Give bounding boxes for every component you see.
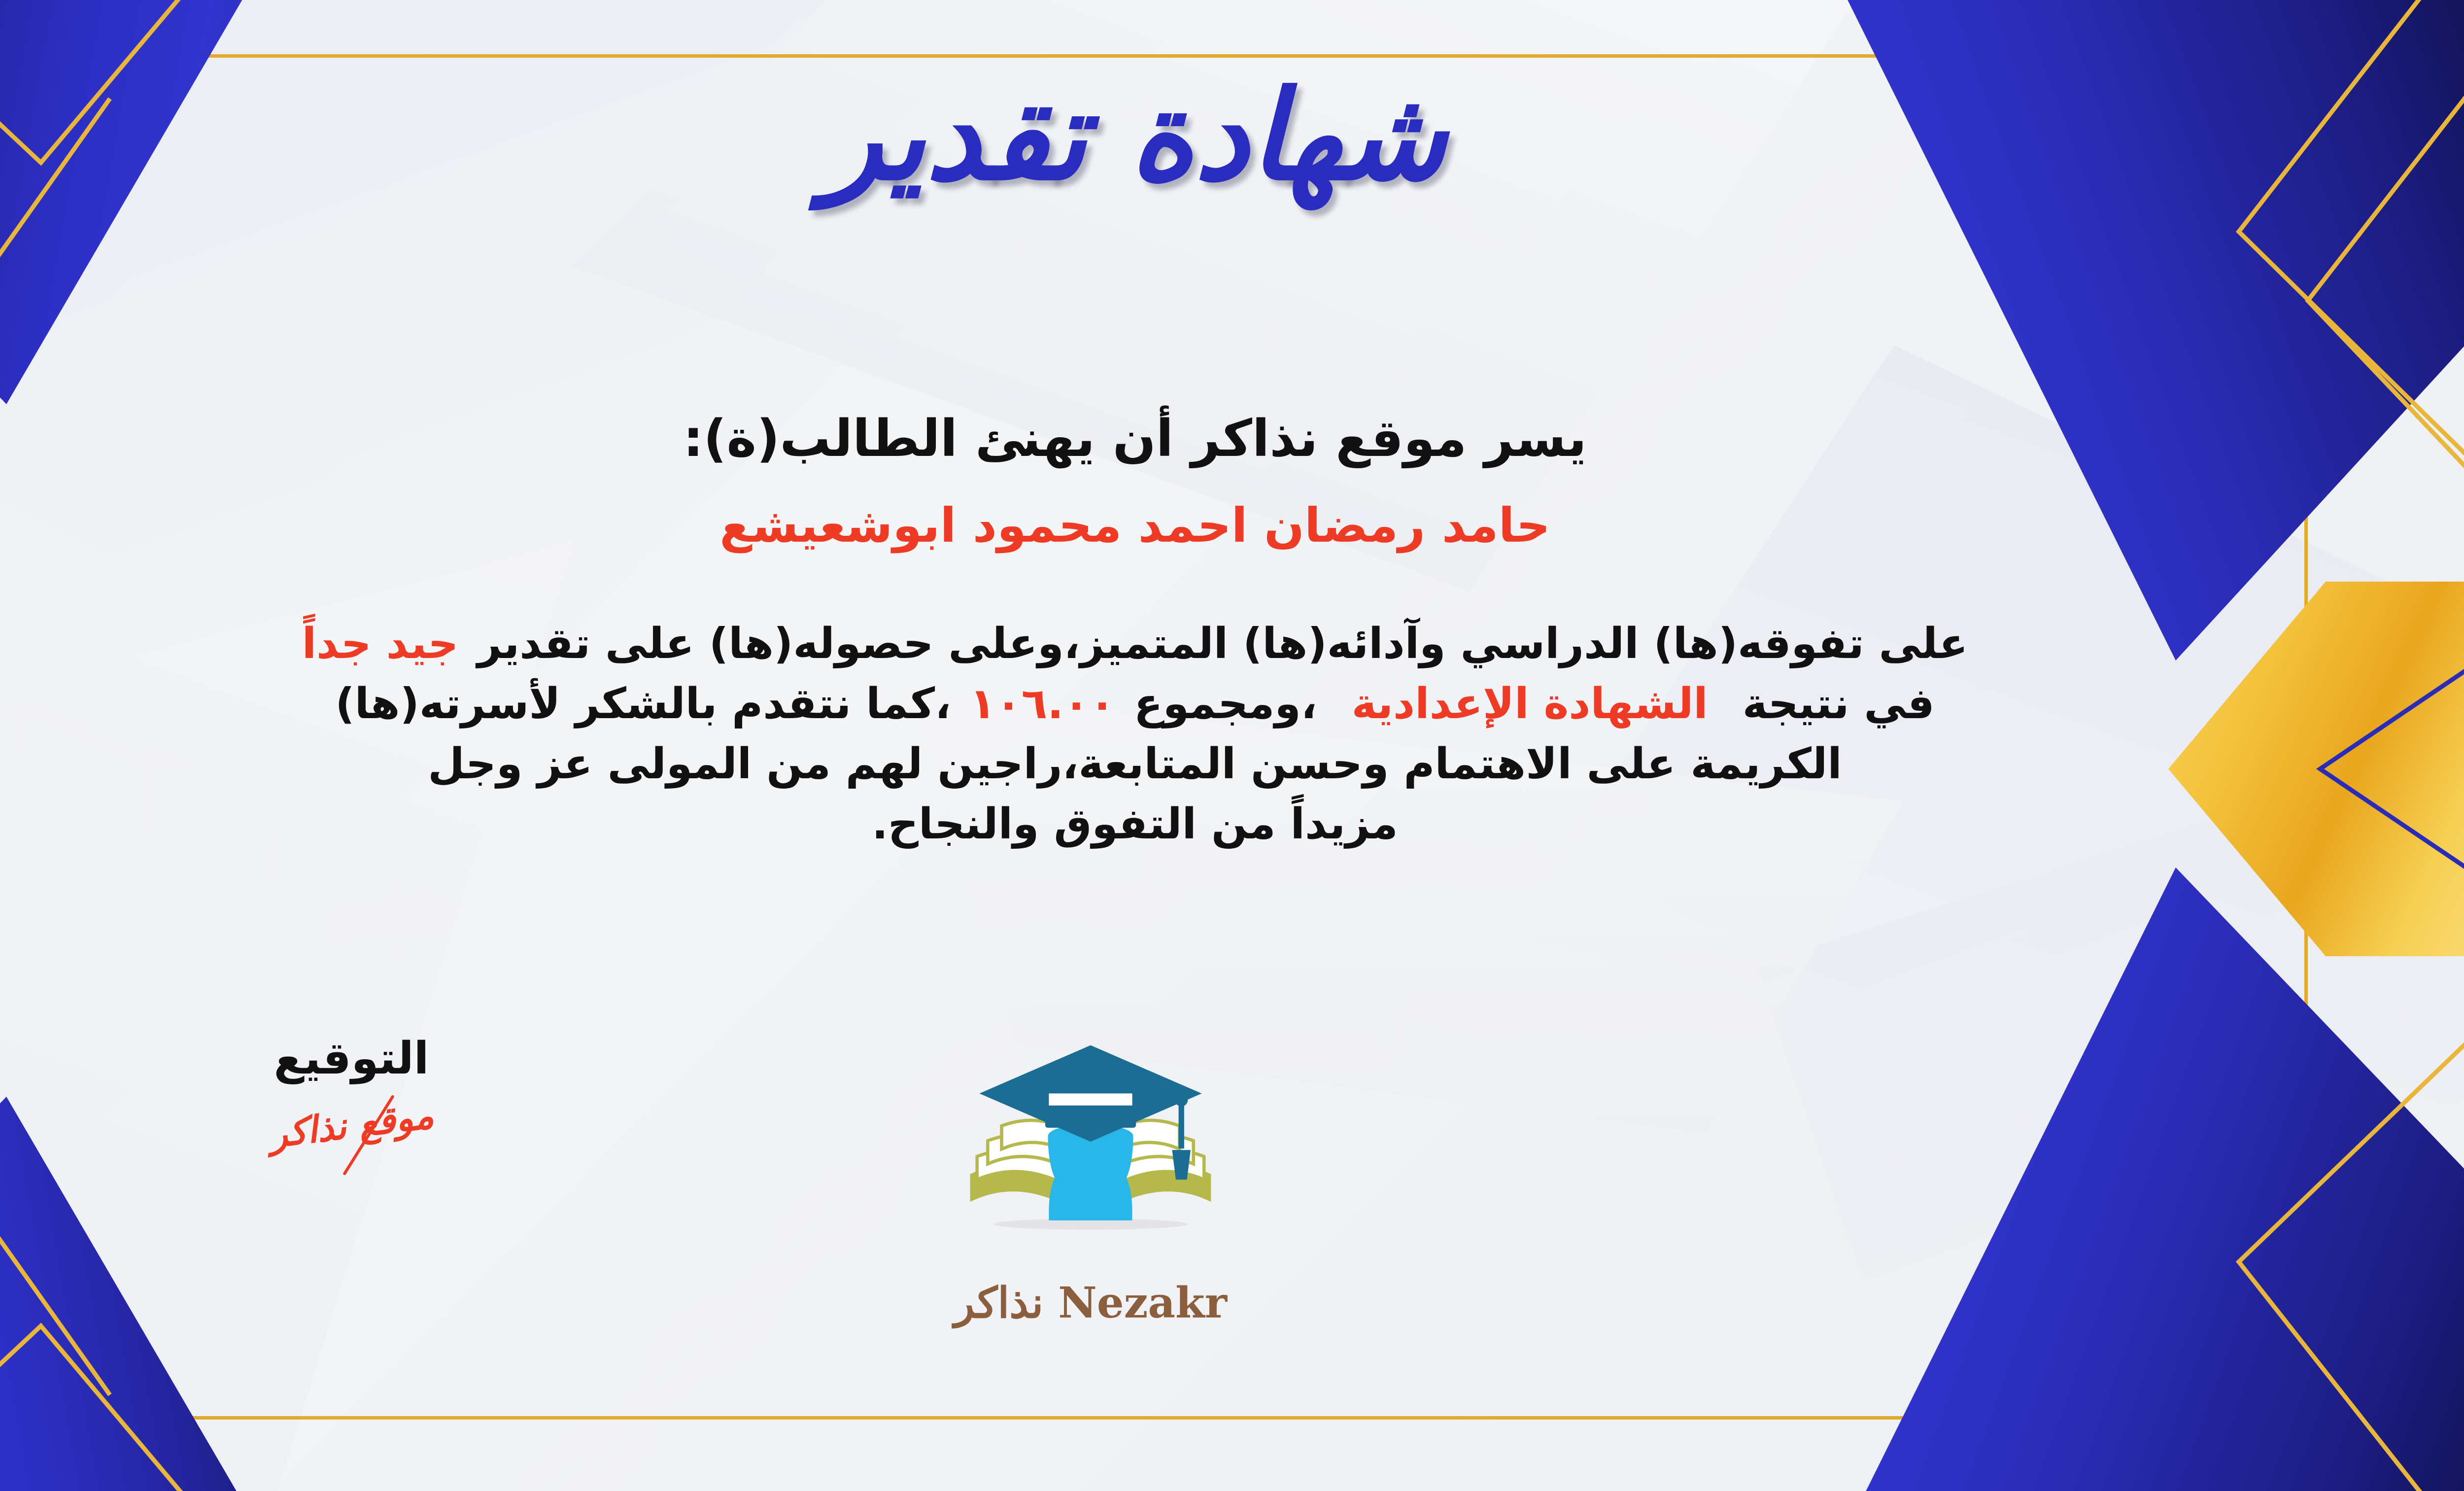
logo-wordmark: Nezakr نذاكر	[933, 1278, 1248, 1328]
grade-value: جيد جداً	[302, 619, 459, 668]
total-score-value: ١٠٦.٠٠	[970, 679, 1115, 728]
certificate-content: شهادة تقدير يسر موقع نذاكر أن يهنئ الطال…	[0, 54, 2288, 1420]
body-line-4: مزيداً من التفوق والنجاح.	[1, 794, 2268, 854]
student-name: حامد رمضان احمد محمود ابوشعيشع	[0, 498, 2288, 553]
body-line-1-text: على تفوقه(ها) الدراسي وآدائه(ها) المتميز…	[477, 619, 1968, 668]
body-line-2-middle: ،ومجموع	[1134, 679, 1317, 728]
body-line-2-prefix: في نتيجة	[1743, 679, 1935, 728]
body-line-2: في نتيجةالشهادة الإعدادية،ومجموع١٠٦.٠٠،ك…	[1, 674, 2268, 734]
salutation-text: يسر موقع نذاكر أن يهنئ الطالب(ة):	[0, 409, 2288, 468]
signature-block: التوقيع موقع نذاكر	[179, 1033, 524, 1146]
signature-label: التوقيع	[179, 1033, 524, 1084]
signature-mark: موقع نذاكر	[267, 1094, 436, 1156]
page-title: شهادة تقدير	[0, 59, 2288, 213]
certificate-canvas: شهادة تقدير يسر موقع نذاكر أن يهنئ الطال…	[0, 0, 2464, 1491]
brand-logo: Nezakr نذاكر	[933, 1035, 1248, 1331]
exam-name: الشهادة الإعدادية	[1352, 679, 1708, 728]
graduate-book-icon	[933, 1035, 1248, 1267]
body-line-3: الكريمة على الاهتمام وحسن المتابعة،راجين…	[1, 734, 2268, 794]
body-line-1: على تفوقه(ها) الدراسي وآدائه(ها) المتميز…	[1, 614, 2268, 674]
body-line-2-suffix: ،كما نتقدم بالشكر لأسرته(ها)	[335, 679, 951, 728]
certificate-body: على تفوقه(ها) الدراسي وآدائه(ها) المتميز…	[1, 614, 2268, 854]
